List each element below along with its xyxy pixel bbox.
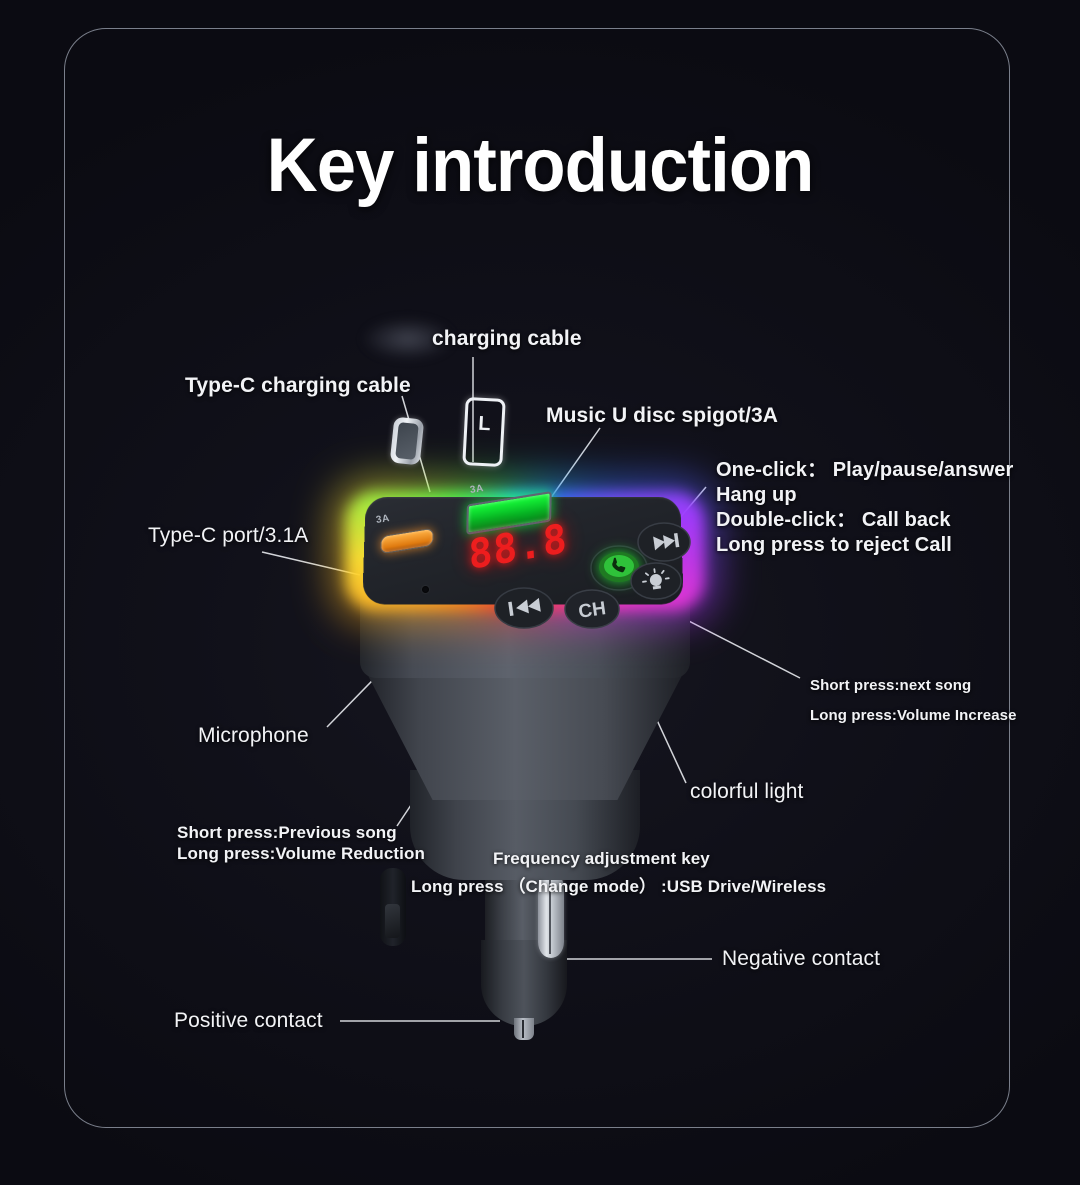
- label-music-u-disc-spigot: Music U disc spigot/3A: [546, 404, 778, 428]
- device-illustration: 3A 3A 88.8 CH: [318, 470, 748, 1050]
- next-song-line-1: Short press:next song: [810, 671, 1017, 701]
- call-button-inner: [604, 555, 634, 577]
- next-song-line-2: Long press:Volume Increase: [810, 701, 1017, 731]
- label-type-c-port: Type-C port/3.1A: [148, 524, 308, 548]
- call-instruction-line-2: Hang up: [716, 483, 1013, 508]
- frequency-line-2: Long press （Change mode） :USB Drive/Wire…: [411, 873, 826, 901]
- call-instruction-line-4: Long press to reject Call: [716, 533, 1013, 558]
- label-call-button-instructions: One-click： Play/pause/answer Hang up Dou…: [716, 458, 1013, 558]
- label-type-c-charging-cable: Type-C charging cable: [185, 374, 411, 398]
- label-iphone-charging-cable: charging cable: [432, 327, 582, 351]
- call-instruction-line-3: Double-click： Call back: [716, 508, 1013, 533]
- label-colorful-light: colorful light: [690, 780, 803, 804]
- label-positive-contact: Positive contact: [174, 1009, 323, 1033]
- previous-song-line-2: Long press:Volume Reduction: [177, 843, 425, 864]
- lightning-connector-shell: [456, 451, 503, 515]
- label-frequency-instructions: Frequency adjustment key Long press （Cha…: [411, 845, 826, 901]
- label-next-song-instructions: Short press:next song Long press:Volume …: [810, 671, 1017, 731]
- frequency-line-1: Frequency adjustment key: [493, 845, 826, 873]
- label-previous-song-instructions: Short press:Previous song Long press:Vol…: [177, 822, 425, 864]
- previous-song-line-1: Short press:Previous song: [177, 822, 425, 843]
- label-microphone: Microphone: [198, 724, 309, 748]
- type-c-connector-shell: [381, 450, 431, 516]
- page-title: Key introduction: [38, 128, 1042, 204]
- button-cluster: CH: [318, 470, 748, 1050]
- label-negative-contact: Negative contact: [722, 947, 880, 971]
- call-instruction-line-1: One-click： Play/pause/answer: [716, 458, 1013, 483]
- channel-button-label: CH: [577, 598, 607, 623]
